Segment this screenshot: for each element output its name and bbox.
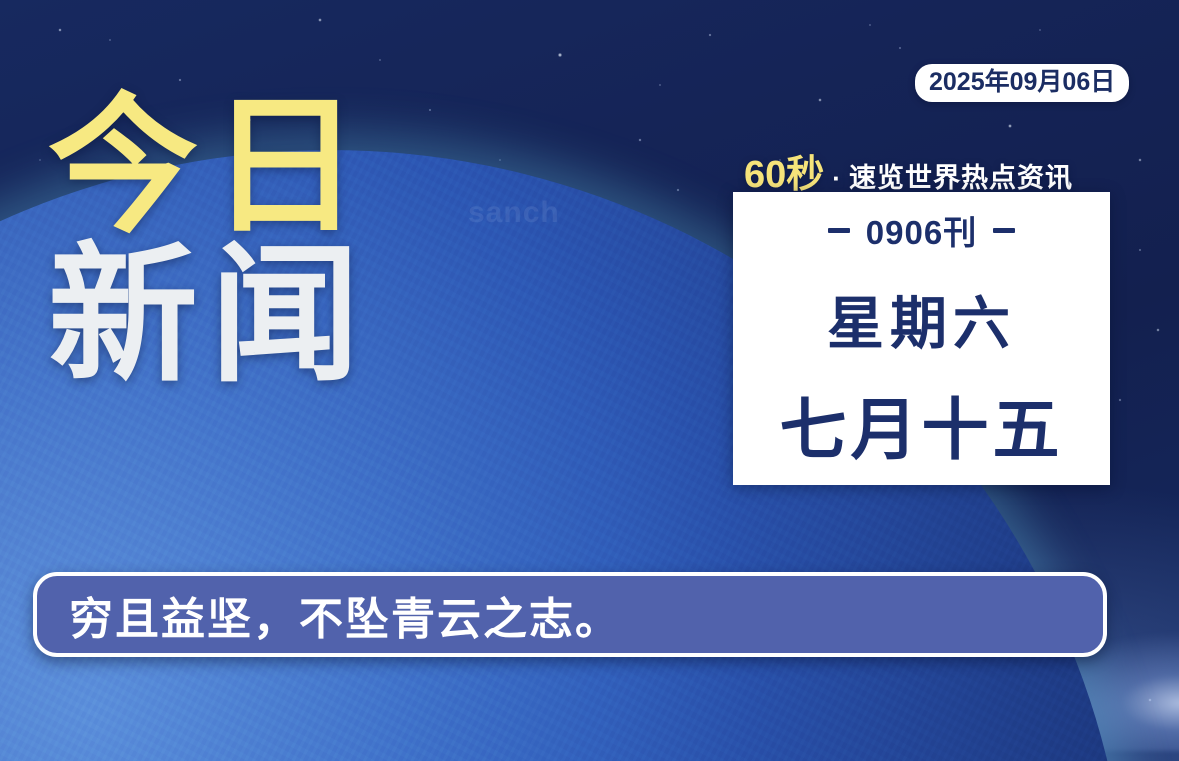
issue-row: 0906刊 <box>828 206 1015 254</box>
tagline-text: 速览世界热点资讯 <box>849 156 1073 195</box>
quote-text: 穷且益坚，不坠青云之志。 <box>69 583 621 647</box>
date-badge: 2025年09月06日 <box>915 64 1129 102</box>
title-line-primary: 今日 <box>48 96 478 239</box>
tagline-separator: · <box>830 163 843 194</box>
dash-left-icon <box>828 228 850 233</box>
news-poster: sanch 今日 新闻 2025年09月06日 60秒 · 速览世界热点资讯 0… <box>0 0 1179 761</box>
issue-number: 0906刊 <box>866 206 977 254</box>
lunar-date: 七月十五 <box>780 376 1064 473</box>
weekday: 星期六 <box>827 278 1016 360</box>
tagline: 60秒 · 速览世界热点资讯 <box>744 143 1073 198</box>
title-line-secondary: 新闻 <box>48 245 478 388</box>
info-card: 0906刊 星期六 七月十五 <box>733 192 1110 485</box>
tagline-highlight: 60秒 <box>744 143 824 198</box>
quote-banner: 穷且益坚，不坠青云之志。 <box>33 572 1107 657</box>
dash-right-icon <box>993 228 1015 233</box>
watermark-text: sanch <box>468 196 560 230</box>
poster-title: 今日 新闻 <box>48 96 478 387</box>
